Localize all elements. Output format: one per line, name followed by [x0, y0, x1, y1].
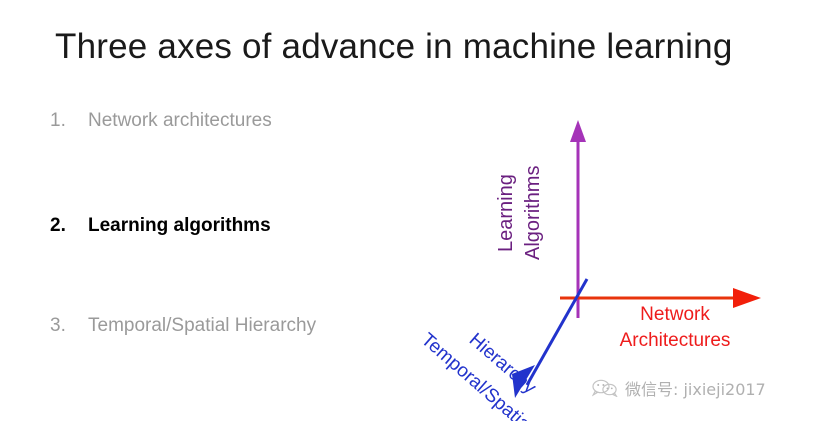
axis-label-network: Network: [600, 305, 750, 324]
watermark-text: 微信号: jixieji2017: [625, 376, 766, 400]
wechat-icon: [592, 379, 618, 397]
three-axis-diagram: [0, 0, 836, 421]
axis-label-architectures: Architectures: [600, 331, 750, 350]
slide-canvas: Three axes of advance in machine learnin…: [0, 0, 836, 421]
watermark: 微信号: jixieji2017: [592, 376, 766, 400]
vertical-axis-arrow: [570, 120, 586, 318]
axis-label-learning: Learning: [496, 174, 516, 252]
axis-label-algorithms: Algorithms: [523, 166, 543, 260]
